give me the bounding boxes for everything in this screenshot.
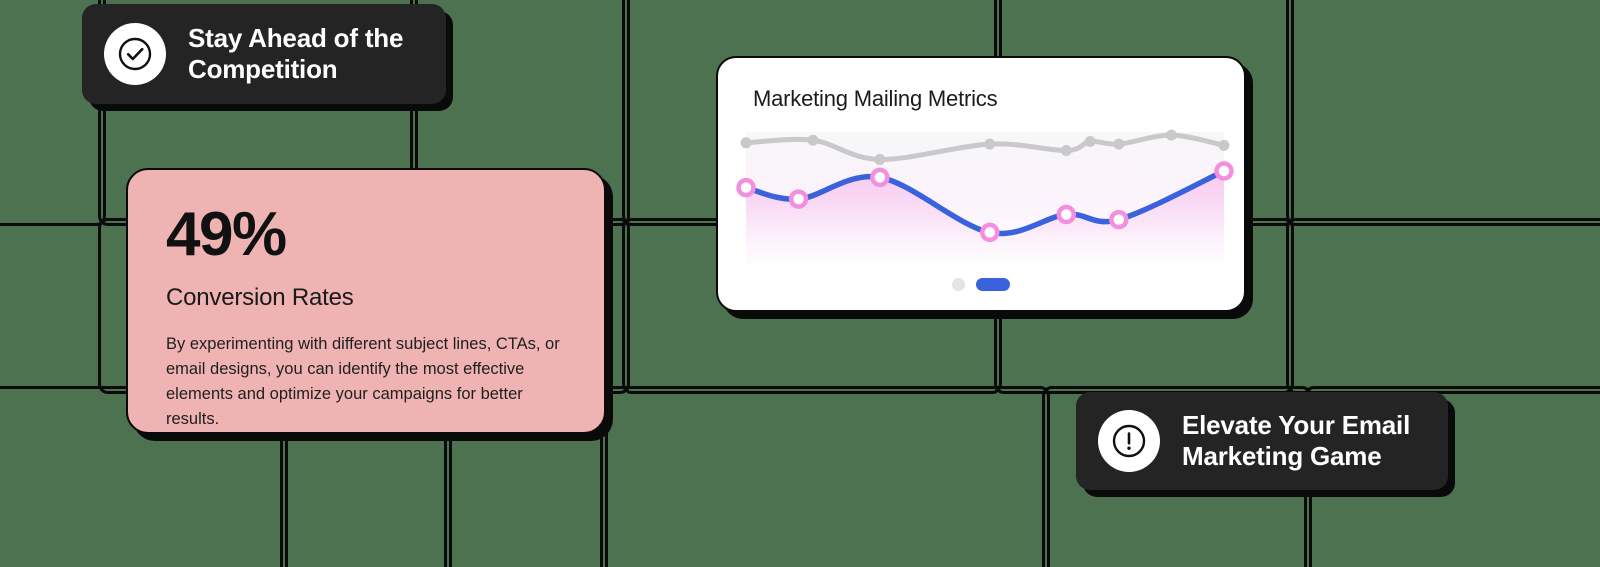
chart-data-point-secondary [1219,140,1230,151]
chart-title: Marketing Mailing Metrics [753,86,1244,112]
composition-stage: Stay Ahead of the Competition 49% Conver… [0,0,1600,567]
chart-data-point[interactable] [791,192,806,207]
chart-data-point[interactable] [872,170,887,185]
line-chart-svg [746,124,1224,264]
chart-plot-area [746,124,1224,264]
chart-data-point-secondary [807,135,818,146]
chart-data-point[interactable] [1217,163,1232,178]
chart-data-point-secondary [1166,130,1177,141]
pagination-dot[interactable] [952,278,965,291]
badge-stay-ahead[interactable]: Stay Ahead of the Competition [82,4,446,104]
check-circle-icon [104,23,166,85]
stat-card-conversion-rates: 49% Conversion Rates By experimenting wi… [126,168,606,434]
grid-cell [1286,0,1600,226]
chart-data-point-secondary [1113,139,1124,150]
chart-data-point-secondary [1085,136,1096,147]
chart-pagination[interactable] [718,278,1244,291]
chart-data-point[interactable] [1059,207,1074,222]
stat-label: Conversion Rates [166,284,566,312]
chart-data-point-secondary [874,154,885,165]
stat-description: By experimenting with different subject … [166,332,566,432]
badge-label: Stay Ahead of the Competition [188,23,403,85]
exclamation-circle-icon [1098,410,1160,472]
chart-card-marketing-mailing-metrics: Marketing Mailing Metrics [716,56,1246,312]
stat-value: 49% [166,204,566,266]
pagination-dot-active[interactable] [976,278,1010,291]
badge-label: Elevate Your Email Marketing Game [1182,410,1410,472]
chart-data-point-secondary [984,139,995,150]
chart-data-point[interactable] [739,180,754,195]
chart-data-point[interactable] [982,225,997,240]
chart-data-point-secondary [1061,145,1072,156]
chart-data-point[interactable] [1111,212,1126,227]
grid-cell [600,386,1050,567]
badge-elevate-email[interactable]: Elevate Your Email Marketing Game [1076,392,1448,490]
chart-data-point-secondary [741,137,752,148]
grid-cell [1286,218,1600,394]
